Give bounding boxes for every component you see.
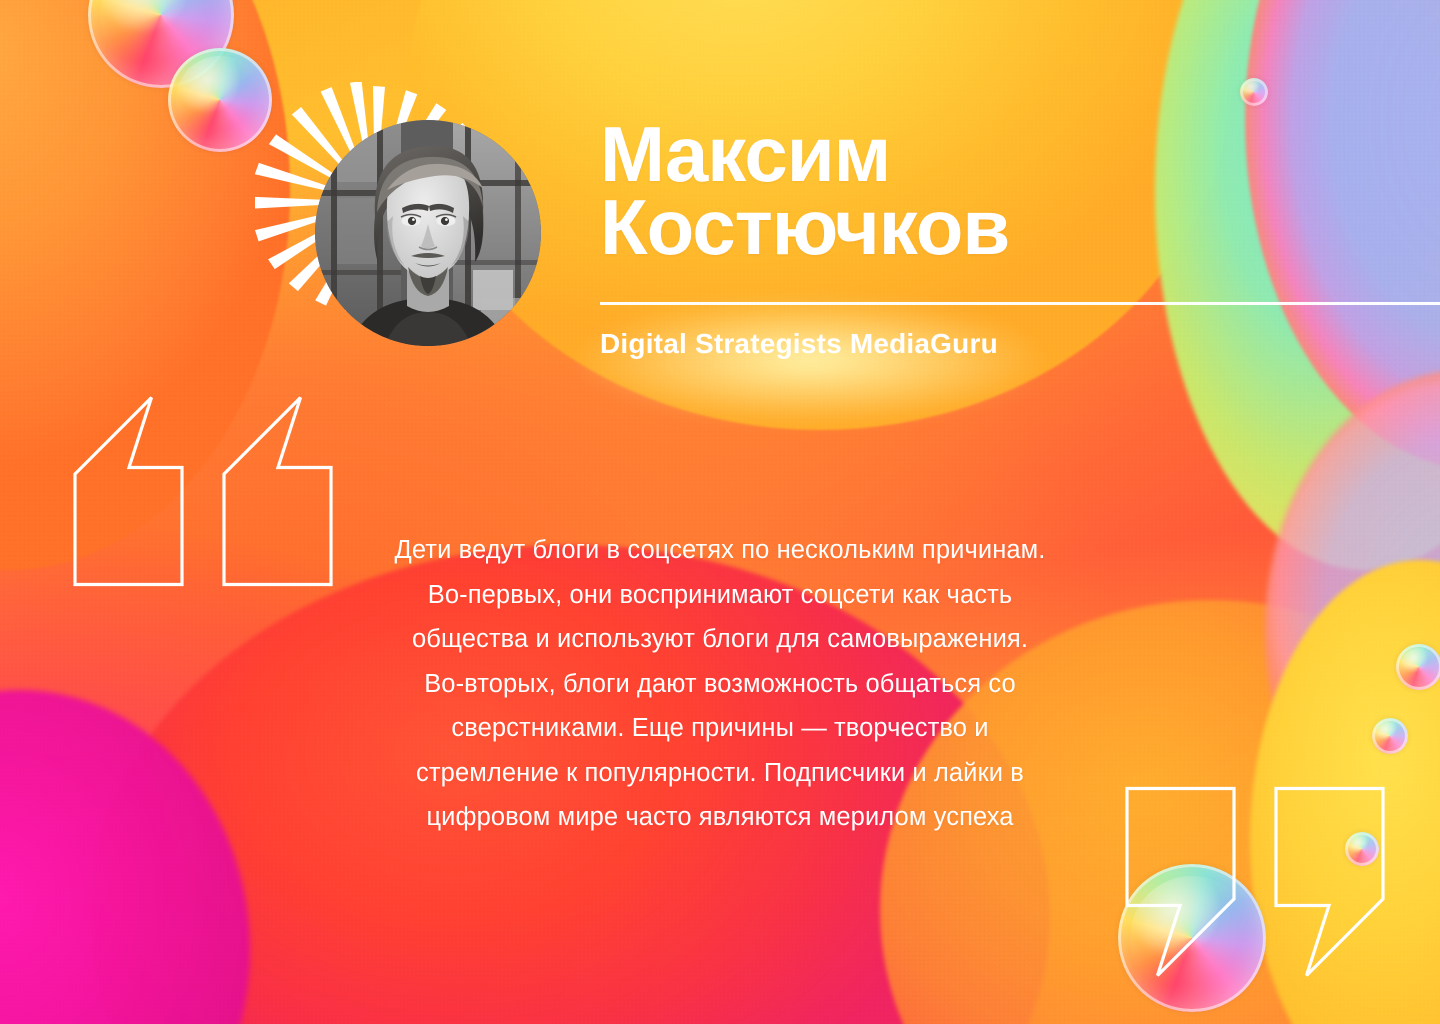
quote-close-icon [1124,786,1386,978]
quote-line: Дети ведут блоги в соцсетях по нескольки… [350,528,1090,573]
quote-text: Дети ведут блоги в соцсетях по нескольки… [350,528,1090,840]
quote-line: Во-первых, они воспринимают соцсети как … [350,573,1090,618]
speaker-role: Digital Strategists MediaGuru [600,328,998,360]
quote-line: цифровом мире часто являются мерилом усп… [350,795,1090,840]
avatar [315,120,541,346]
soap-bubble-icon-right-edge-b [1372,718,1408,754]
quote-line: Во-вторых, блоги дают возможность общать… [350,662,1090,707]
speaker-avatar-group [255,82,555,372]
quote-line: общества и используют блоги для самовыра… [350,617,1090,662]
quote-line: стремление к популярности. Подписчики и … [350,751,1090,796]
speaker-name-line-2: Костючков [600,191,1420,264]
speaker-name-line-1: Максим [600,118,1420,191]
soap-bubble-icon-right-tiny [1240,78,1268,106]
soap-bubble-icon-right-edge-a [1396,644,1440,690]
blob-magenta-bottom-left [0,690,250,1024]
blob-yellow-highlight [470,300,1150,450]
blob-cyan-right [1155,0,1440,570]
quote-slide: Максим Костючков Digital Strategists Med… [0,0,1440,1024]
quote-line: сверстниками. Еще причины — творчество и [350,706,1090,751]
quote-open-icon [72,395,334,587]
header-divider [600,302,1440,305]
speaker-name: Максим Костючков [600,118,1420,265]
